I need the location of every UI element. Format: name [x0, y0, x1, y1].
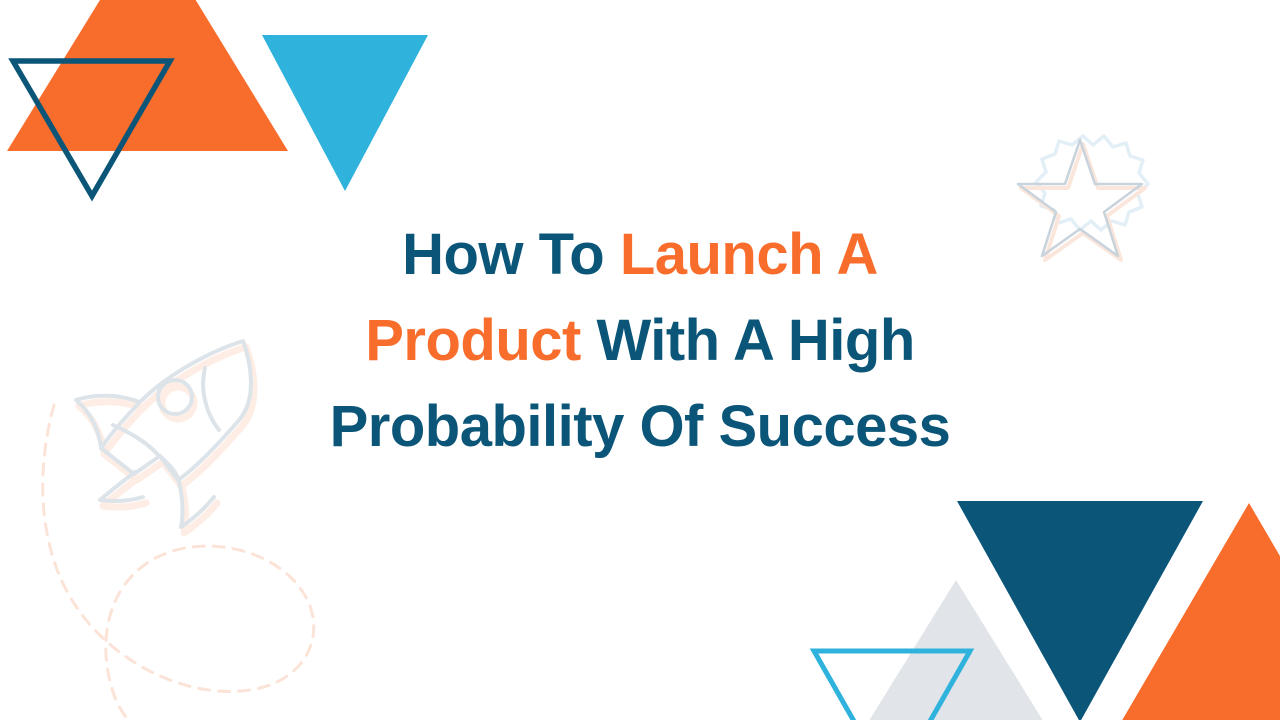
slide-canvas: How To Launch A Product With A High Prob…: [0, 0, 1280, 720]
title-line-2-segment-1: Product: [365, 308, 581, 373]
title-line-1: How To Launch A: [250, 212, 1030, 298]
rocket-watermark: [76, 341, 254, 533]
title-line-2-segment-2: With A High: [581, 308, 915, 373]
title-line-3: Probability Of Success: [250, 384, 1030, 470]
title-line-3-segment-1: Probability Of Success: [330, 394, 951, 459]
title-line-1-segment-2: Launch A: [620, 222, 878, 287]
title-line-2: Product With A High: [250, 298, 1030, 384]
title-line-1-segment-1: How To: [402, 222, 620, 287]
star-burst-watermark: [1018, 136, 1148, 260]
page-title: How To Launch A Product With A High Prob…: [250, 212, 1030, 470]
